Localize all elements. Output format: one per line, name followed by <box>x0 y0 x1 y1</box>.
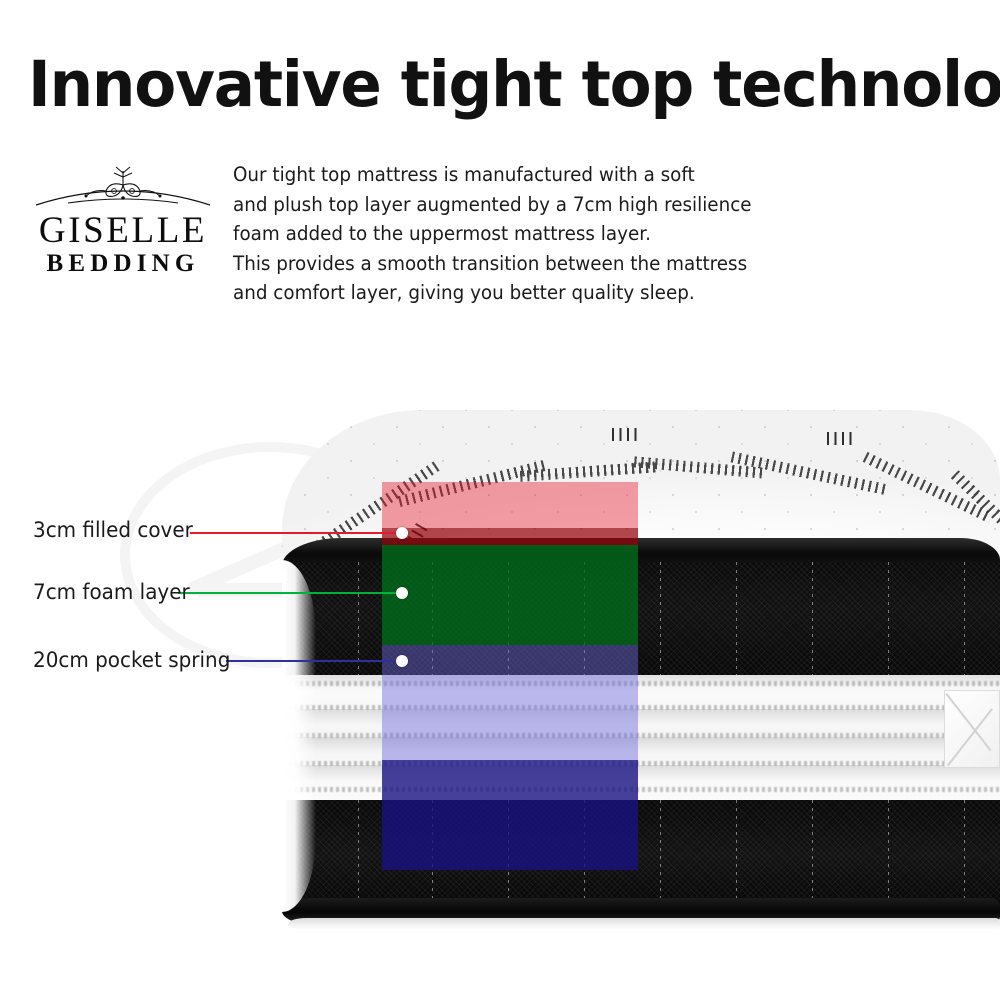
quilt-stitch-mark <box>612 428 642 441</box>
leader-endpoint-dot <box>396 587 408 599</box>
vertical-stitch <box>660 562 661 677</box>
brand-logo: GISELLE BEDDING <box>28 165 218 285</box>
intro-line-3: foam added to the uppermost mattress lay… <box>233 219 731 249</box>
mattress-base-foot <box>288 918 1000 930</box>
vertical-stitch <box>964 800 965 910</box>
cover-highlight-top-band <box>382 482 638 528</box>
vertical-stitch <box>736 800 737 910</box>
vertical-stitch <box>736 562 737 677</box>
vertical-stitch <box>888 562 889 677</box>
callout-label-filled-cover: 3cm filled cover <box>33 518 193 542</box>
foam-highlight-band <box>382 545 638 645</box>
callout-leader-foam-layer <box>178 592 402 594</box>
callout-leader-filled-cover <box>190 532 402 534</box>
base-highlight-band <box>382 760 638 870</box>
left-edge-highlight <box>282 560 316 912</box>
mattress-handle-tag-icon <box>944 690 1000 768</box>
leader-line <box>190 532 402 534</box>
vertical-stitch <box>964 562 965 677</box>
layer-highlight-overlay <box>382 482 638 870</box>
ornate-crest-icon <box>28 165 218 213</box>
intro-line-2: and plush top layer augmented by a 7cm h… <box>233 190 731 220</box>
brand-tagline: BEDDING <box>28 250 218 278</box>
quilt-stitch-mark <box>827 432 857 445</box>
cover-highlight-band <box>382 528 638 545</box>
vertical-stitch <box>358 800 359 910</box>
intro-line-5: and comfort layer, giving you better qua… <box>233 278 731 308</box>
leader-endpoint-dot <box>396 527 408 539</box>
page-title: Innovative tight top technology <box>28 52 950 118</box>
callout-label-pocket-spring: 20cm pocket spring <box>33 648 230 672</box>
vertical-stitch <box>660 800 661 910</box>
spring-highlight-band <box>382 645 638 760</box>
leader-endpoint-dot <box>396 655 408 667</box>
intro-paragraph: Our tight top mattress is manufactured w… <box>233 160 731 308</box>
callout-label-foam-layer: 7cm foam layer <box>33 580 190 604</box>
leader-line <box>226 660 402 662</box>
intro-line-1: Our tight top mattress is manufactured w… <box>233 160 731 190</box>
brand-name: GISELLE <box>28 211 218 251</box>
leader-line <box>178 592 402 594</box>
vertical-stitch <box>812 562 813 677</box>
callout-leader-pocket-spring <box>226 660 402 662</box>
vertical-stitch <box>812 800 813 910</box>
infographic-page: Innovative tight top technology GISELLE … <box>0 0 1000 1000</box>
vertical-stitch <box>888 800 889 910</box>
intro-line-4: This provides a smooth transition betwee… <box>233 249 731 279</box>
